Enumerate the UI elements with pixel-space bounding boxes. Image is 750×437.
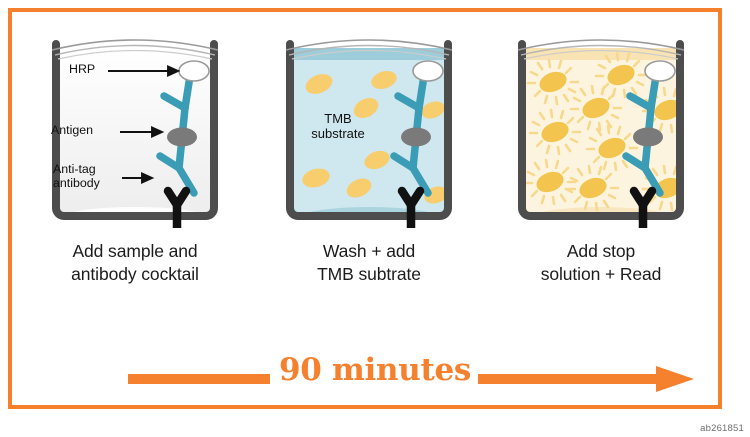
caption-line-1: Add sample and <box>28 240 242 263</box>
microplate-well-1: HRP Antigen Anti-tag antibody <box>42 30 228 228</box>
label-hrp: HRP <box>69 63 95 77</box>
label-tmb-line2: substrate <box>288 127 388 142</box>
hrp-oval <box>645 61 675 81</box>
microplate-well-3 <box>508 30 694 228</box>
microplate-well-2: TMB substrate <box>276 30 462 228</box>
label-antigen: Antigen <box>51 124 93 138</box>
hrp-oval <box>179 61 209 81</box>
panel-caption-1: Add sample and antibody cocktail <box>28 240 242 286</box>
label-anti-tag-antibody-line2: antibody <box>53 177 100 191</box>
panel-caption-2: Wash + add TMB subtrate <box>262 240 476 286</box>
hrp-oval <box>413 61 443 81</box>
label-anti-tag-antibody-line1: Anti-tag <box>53 163 96 177</box>
panel-wash-tmb: TMB substrate Wash + add TMB subtrate <box>276 30 462 320</box>
caption-line-1: Add stop <box>494 240 708 263</box>
panel-add-sample: HRP Antigen Anti-tag antibody Add sample… <box>42 30 228 320</box>
panel-caption-3: Add stop solution + Read <box>494 240 708 286</box>
label-tmb-line1: TMB <box>288 112 388 127</box>
timeline-duration-label: 90 minutes <box>0 352 750 388</box>
antigen-oval <box>633 128 663 147</box>
panel-stop-read: Add stop solution + Read <box>508 30 694 320</box>
caption-line-2: antibody cocktail <box>28 263 242 286</box>
caption-line-2: solution + Read <box>494 263 708 286</box>
antigen-oval <box>401 128 431 147</box>
caption-line-1: Wash + add <box>262 240 476 263</box>
label-tmb-substrate: TMB substrate <box>288 112 388 142</box>
antigen-oval <box>167 128 197 147</box>
caption-line-2: TMB subtrate <box>262 263 476 286</box>
elisa-workflow-diagram: HRP Antigen Anti-tag antibody Add sample… <box>0 0 750 437</box>
watermark-code: ab261851 <box>700 423 744 434</box>
